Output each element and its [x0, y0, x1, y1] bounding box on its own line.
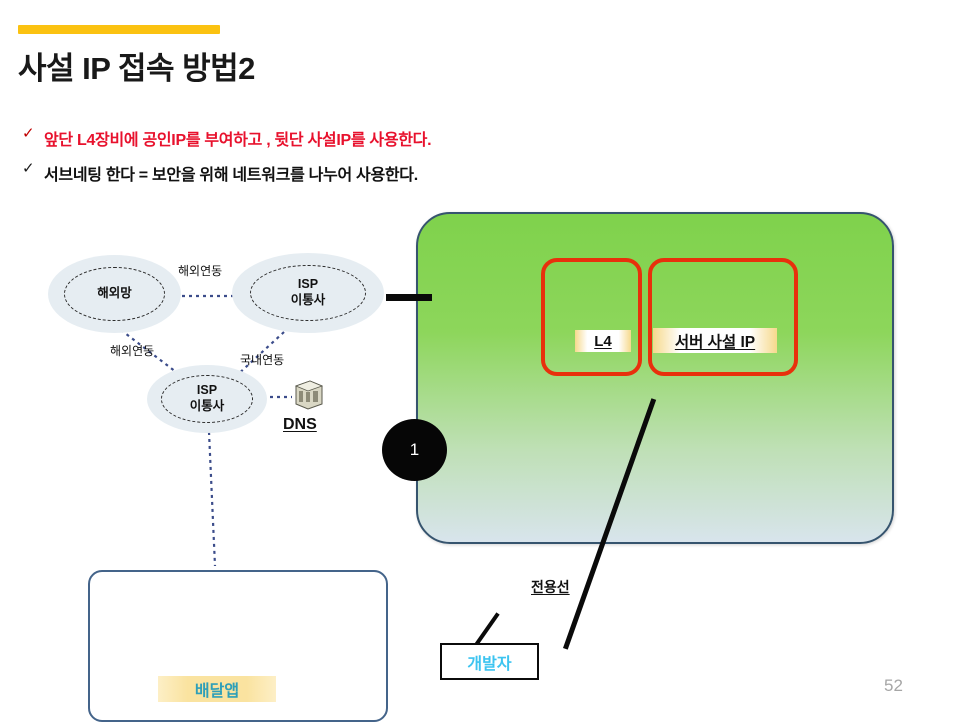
link-label-overseas-top: 해외연동 [178, 262, 222, 279]
bullet-item-1: ✓ 앞단 L4장비에 공인IP를 부여하고 , 뒷단 사설IP를 사용한다. [22, 126, 431, 150]
title-accent-bar [18, 25, 220, 34]
link-label-overseas-left: 해외연동 [110, 342, 154, 359]
cloud-label: 해외망 [97, 286, 132, 302]
l4-tag: L4 [575, 330, 631, 352]
leased-line-label: 전용선 [531, 577, 570, 597]
cloud-label-line2: 이통사 [291, 293, 326, 309]
check-icon: ✓ [22, 161, 44, 176]
bullet-item-2: ✓ 서브네팅 한다 = 보안을 위해 네트워크를 나누어 사용한다. [22, 161, 418, 185]
cloud-isp-carrier-2: ISP 이통사 [147, 365, 267, 433]
link-label-domestic: 국내연동 [240, 351, 284, 368]
dns-server-icon [296, 381, 322, 409]
l4-highlight-box [541, 258, 642, 376]
page-title: 사설 IP 접속 방법2 [18, 43, 255, 88]
check-icon: ✓ [22, 126, 44, 141]
wan-uplink-line [386, 294, 432, 301]
server-private-ip-highlight-box [648, 258, 798, 376]
server-private-ip-tag: 서버 사설 IP [653, 328, 777, 353]
developer-box: 개발자 [440, 643, 539, 680]
delivery-app-caption: 배달앱 [158, 676, 276, 702]
bullet-text-1: 앞단 L4장비에 공인IP를 부여하고 , 뒷단 사설IP를 사용한다. [44, 126, 431, 150]
slide-canvas: 사설 IP 접속 방법2 ✓ 앞단 L4장비에 공인IP를 부여하고 , 뒷단 … [0, 0, 960, 720]
bullet-text-2: 서브네팅 한다 = 보안을 위해 네트워크를 나누어 사용한다. [44, 161, 418, 185]
cloud-label-line2: 이통사 [190, 399, 225, 415]
page-number: 52 [884, 676, 903, 696]
cloud-label-line1: ISP [190, 383, 225, 399]
cloud-label: ISP 이통사 [291, 277, 326, 308]
cloud-label-line1: ISP [291, 277, 326, 293]
step-badge-1: 1 [382, 419, 447, 481]
cloud-label: ISP 이통사 [190, 383, 225, 414]
cloud-overseas-network: 해외망 [48, 255, 181, 333]
dns-label: DNS [283, 416, 317, 434]
developer-label: 개발자 [467, 650, 511, 674]
cloud-isp-carrier-1: ISP 이통사 [232, 253, 384, 333]
